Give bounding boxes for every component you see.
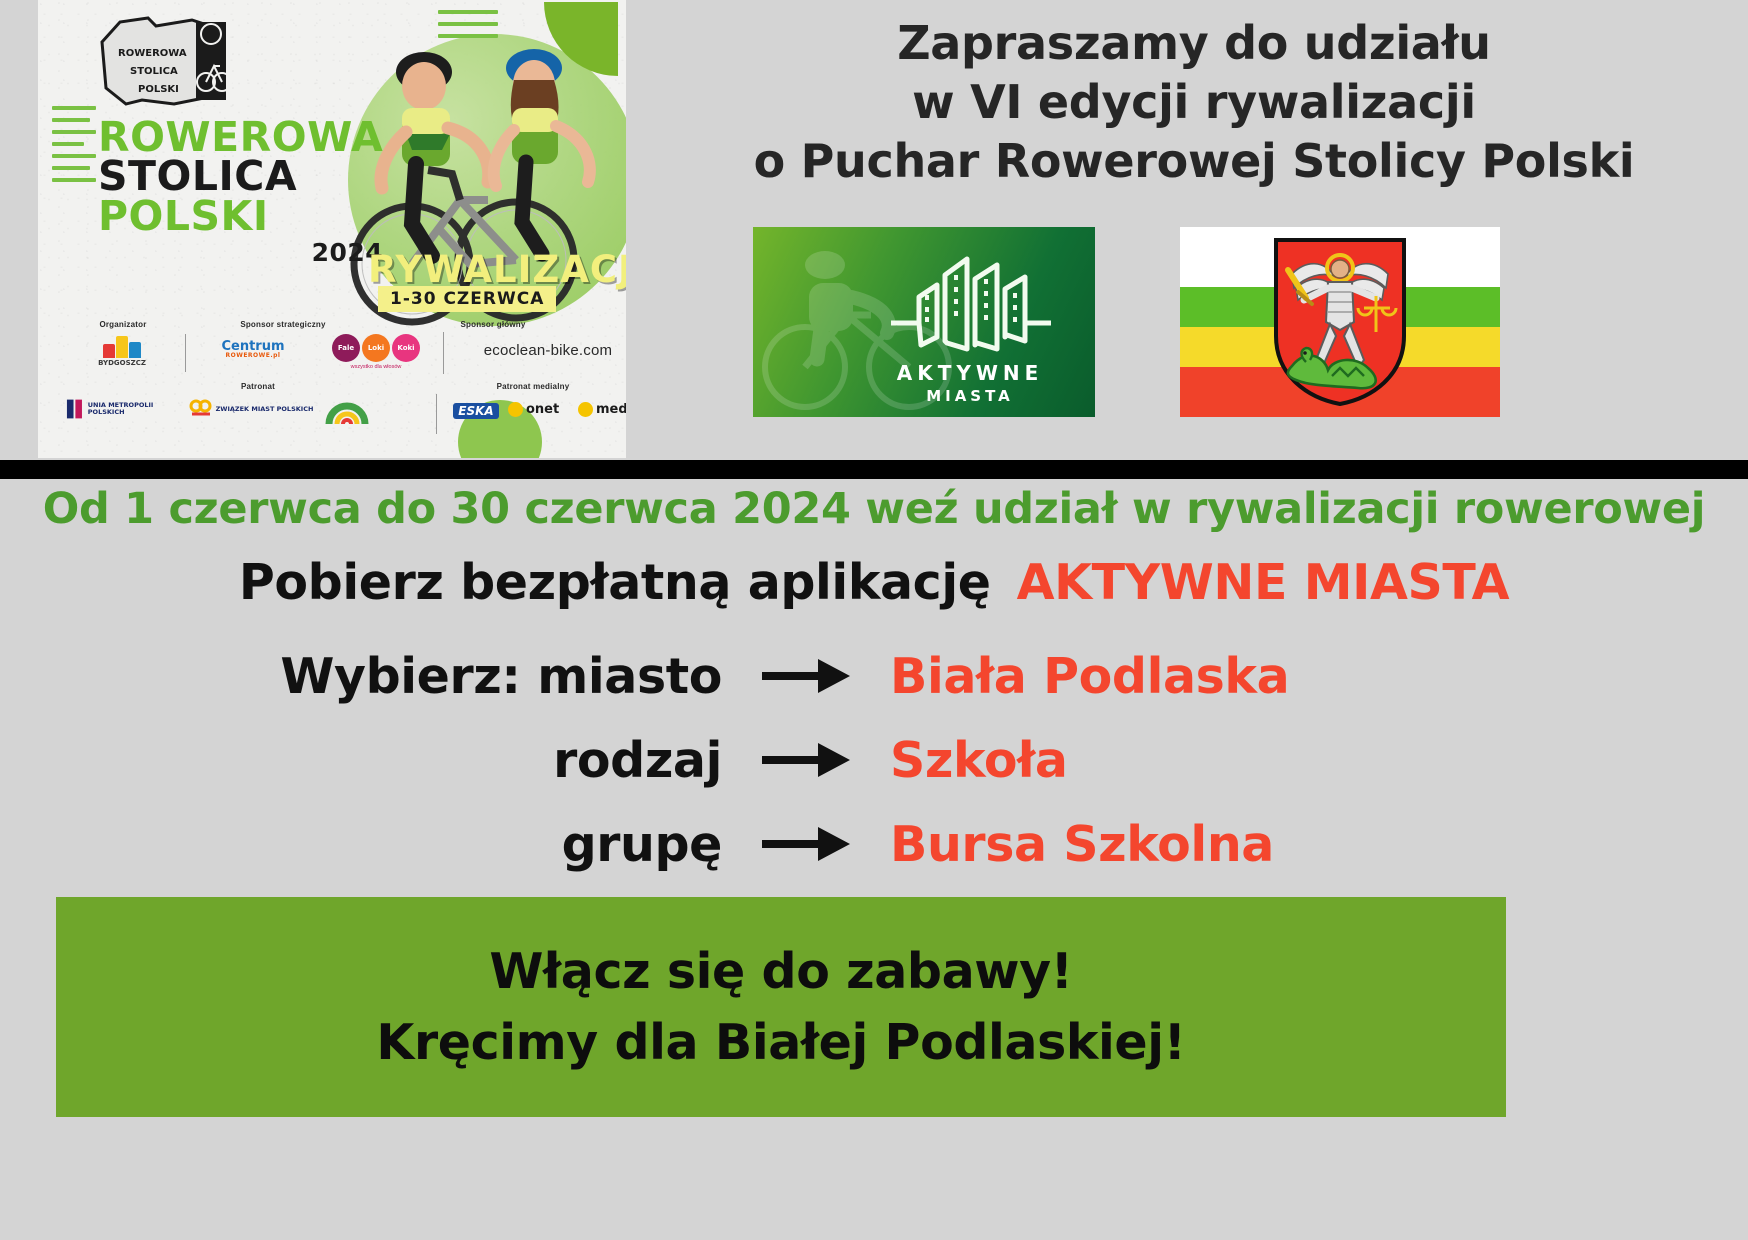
download-app-label: Pobierz bezpłatną aplikację: [239, 554, 991, 611]
rowerowa-stolica-polski-poster: ROWEROWA STOLICA POLSKI: [38, 0, 626, 458]
medonet-logo-icon: medonet: [578, 402, 626, 417]
pick-label-city: Wybierz: miasto: [0, 648, 722, 705]
rsp-map-bike-logo-icon: ROWEROWA STOLICA POLSKI: [96, 12, 238, 110]
wordmark-line-2: STOLICA: [98, 157, 383, 196]
aktywne-miasta-logo-panel: AKTYWNE MIASTA: [753, 227, 1095, 417]
onet-logo-dot: [508, 402, 523, 417]
sponsor-divider-3: [436, 394, 437, 434]
bottom-section: Od 1 czerwca do 30 czerwca 2024 weź udzi…: [0, 479, 1748, 1240]
download-app-line: Pobierz bezpłatną aplikacjęAKTYWNE MIAST…: [0, 554, 1748, 611]
bydgoszcz-logo-caption: BYDGOSZCZ: [72, 359, 172, 367]
unia-metropolii-logo-text: UNIA METROPOLII POLSKICH: [88, 402, 186, 416]
decorative-dashes-left: [52, 106, 96, 202]
aktywne-miasta-title-line-1: AKTYWNE: [885, 361, 1055, 385]
ecoclean-bike-logo-text: ecoclean-bike.com: [458, 342, 626, 359]
flk-chip-3: Koki: [392, 334, 420, 362]
city-buildings-icon: [885, 249, 1055, 359]
header-line-2: w VI edycji rywalizacji: [640, 73, 1748, 132]
zwiazek-miast-polskich-logo-icon: ZWIĄZEK MIAST POLSKICH: [186, 398, 316, 420]
arrow-right-icon: [722, 653, 890, 699]
download-app-value: AKTYWNE MIASTA: [1017, 554, 1510, 611]
medonet-logo-text: medonet: [596, 402, 626, 417]
pick-row-group: grupę Bursa Szkolna: [0, 802, 1748, 886]
sponsor-label-patronat-medialny: Patronat medialny: [438, 382, 626, 391]
svg-text:STOLICA: STOLICA: [130, 66, 178, 77]
archangel-michael-coat-of-arms-icon: [1272, 236, 1408, 408]
sponsor-label-glowny: Sponsor główny: [388, 320, 598, 329]
header-line-1: Zapraszamy do udziału: [640, 14, 1748, 73]
pick-label-type: rodzaj: [0, 732, 722, 789]
wordmark-year: 2024: [98, 238, 383, 267]
header-line-3: o Puchar Rowerowej Stolicy Polski: [640, 132, 1748, 191]
pick-row-type: rodzaj Szkoła: [0, 718, 1748, 802]
zwiazek-miast-logo-text: ZWIĄZEK MIAST POLSKICH: [216, 406, 314, 413]
sponsor-label-strategiczny: Sponsor strategiczny: [178, 320, 388, 329]
biala-podlaska-flag: [1180, 227, 1500, 417]
sponsor-label-patronat: Patronat: [188, 382, 328, 391]
partner-rainbow-logo-icon: [325, 396, 369, 426]
cta-line-1: Włącz się do zabawy!: [489, 936, 1072, 1007]
medonet-logo-dot: [578, 402, 593, 417]
sponsor-divider-1: [185, 334, 186, 372]
fale-loki-koki-logo-icon: Fale Loki Koki: [318, 334, 434, 362]
pick-row-city: Wybierz: miasto Biała Podlaska: [0, 634, 1748, 718]
onet-logo-text: onet: [526, 402, 559, 417]
pick-label-group: grupę: [0, 816, 722, 873]
centrum-rowerowe-logo-icon: Centrum ROWEROWE.pl: [198, 340, 308, 359]
unia-metropolii-polskich-logo-icon: UNIA METROPOLII POLSKICH: [66, 398, 186, 420]
sponsor-label-organizator: Organizator: [58, 320, 188, 329]
page-title: Zapraszamy do udziału w VI edycji rywali…: [640, 14, 1748, 191]
svg-text:ROWEROWA: ROWEROWA: [118, 48, 187, 59]
onet-logo-icon: onet: [508, 402, 580, 417]
flk-chip-2: Loki: [362, 334, 390, 362]
selection-steps: Wybierz: miasto Biała Podlaska rodzaj Sz…: [0, 634, 1748, 886]
competition-dates-badge: 1-30 CZERWCA: [378, 286, 556, 312]
rsp-wordmark: ROWEROWA STOLICA POLSKI 2024: [98, 118, 383, 267]
poster-page: ROWEROWA STOLICA POLSKI: [0, 0, 1748, 1240]
flk-chip-1: Fale: [332, 334, 360, 362]
section-divider: [0, 460, 1748, 479]
centrum-logo-subtext: ROWEROWE.pl: [198, 353, 308, 359]
pick-value-group: Bursa Szkolna: [890, 816, 1274, 873]
flk-logo-caption: wszystko dla włosów: [318, 364, 434, 370]
arrow-right-icon: [722, 821, 890, 867]
bydgoszcz-logo-icon: [72, 336, 172, 358]
cta-line-2: Kręcimy dla Białej Podlaskiej!: [376, 1007, 1185, 1078]
arrow-right-icon: [722, 737, 890, 783]
sponsor-divider-2: [443, 332, 444, 374]
call-to-action-banner: Włącz się do zabawy! Kręcimy dla Białej …: [56, 897, 1506, 1117]
top-section: ROWEROWA STOLICA POLSKI: [0, 0, 1748, 460]
green-headline: Od 1 czerwca do 30 czerwca 2024 weź udzi…: [0, 484, 1748, 534]
pick-value-city: Biała Podlaska: [890, 648, 1289, 705]
pick-value-type: Szkoła: [890, 732, 1068, 789]
aktywne-miasta-title-line-2: MIASTA: [885, 387, 1055, 405]
competition-banner-label: RYWALIZACJA: [368, 248, 626, 291]
wordmark-line-3: POLSKI: [98, 197, 383, 236]
eska-logo-text: ESKA: [453, 403, 498, 419]
svg-text:POLSKI: POLSKI: [138, 84, 179, 95]
